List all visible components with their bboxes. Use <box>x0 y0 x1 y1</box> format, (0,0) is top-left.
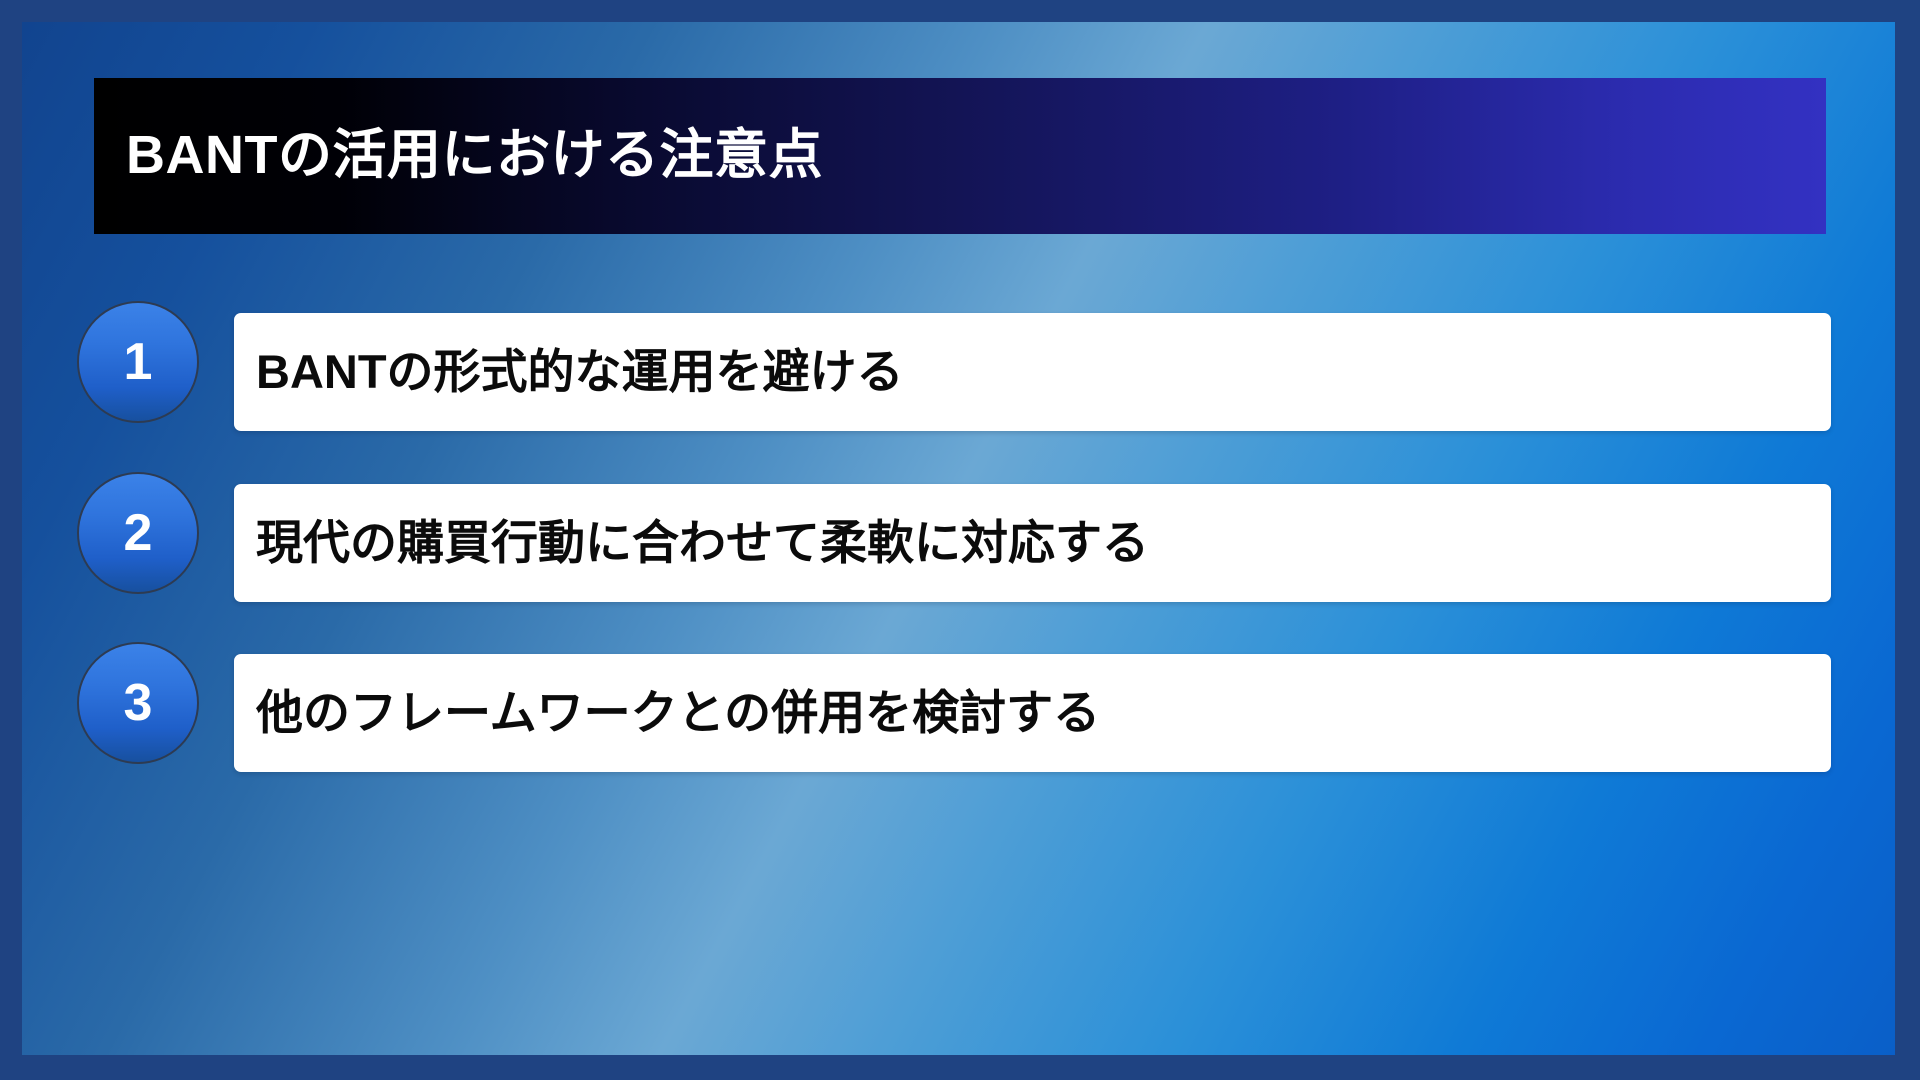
slide: BANTの活用における注意点 1 BANTの形式的な運用を避ける 2 現代の購買… <box>0 0 1920 1080</box>
item-card-label: 現代の購買行動に合わせて柔軟に対応する <box>256 516 1149 570</box>
list-item[interactable]: 3 他のフレームワークとの併用を検討する <box>22 642 1895 780</box>
number-badge-label: 3 <box>124 677 153 729</box>
list-item[interactable]: 1 BANTの形式的な運用を避ける <box>22 301 1895 439</box>
item-card[interactable]: 他のフレームワークとの併用を検討する <box>234 654 1831 772</box>
slide-canvas: BANTの活用における注意点 1 BANTの形式的な運用を避ける 2 現代の購買… <box>22 22 1895 1055</box>
title-banner: BANTの活用における注意点 <box>94 78 1826 234</box>
item-card-label: BANTの形式的な運用を避ける <box>256 345 904 399</box>
number-badge: 2 <box>77 472 199 594</box>
number-badge: 1 <box>77 301 199 423</box>
item-card-label: 他のフレームワークとの併用を検討する <box>256 686 1100 740</box>
item-card[interactable]: BANTの形式的な運用を避ける <box>234 313 1831 431</box>
number-badge-label: 2 <box>124 507 153 559</box>
number-badge-label: 1 <box>124 336 153 388</box>
list-item[interactable]: 2 現代の購買行動に合わせて柔軟に対応する <box>22 472 1895 610</box>
number-badge: 3 <box>77 642 199 764</box>
item-card[interactable]: 現代の購買行動に合わせて柔軟に対応する <box>234 484 1831 602</box>
page-title: BANTの活用における注意点 <box>126 126 823 185</box>
